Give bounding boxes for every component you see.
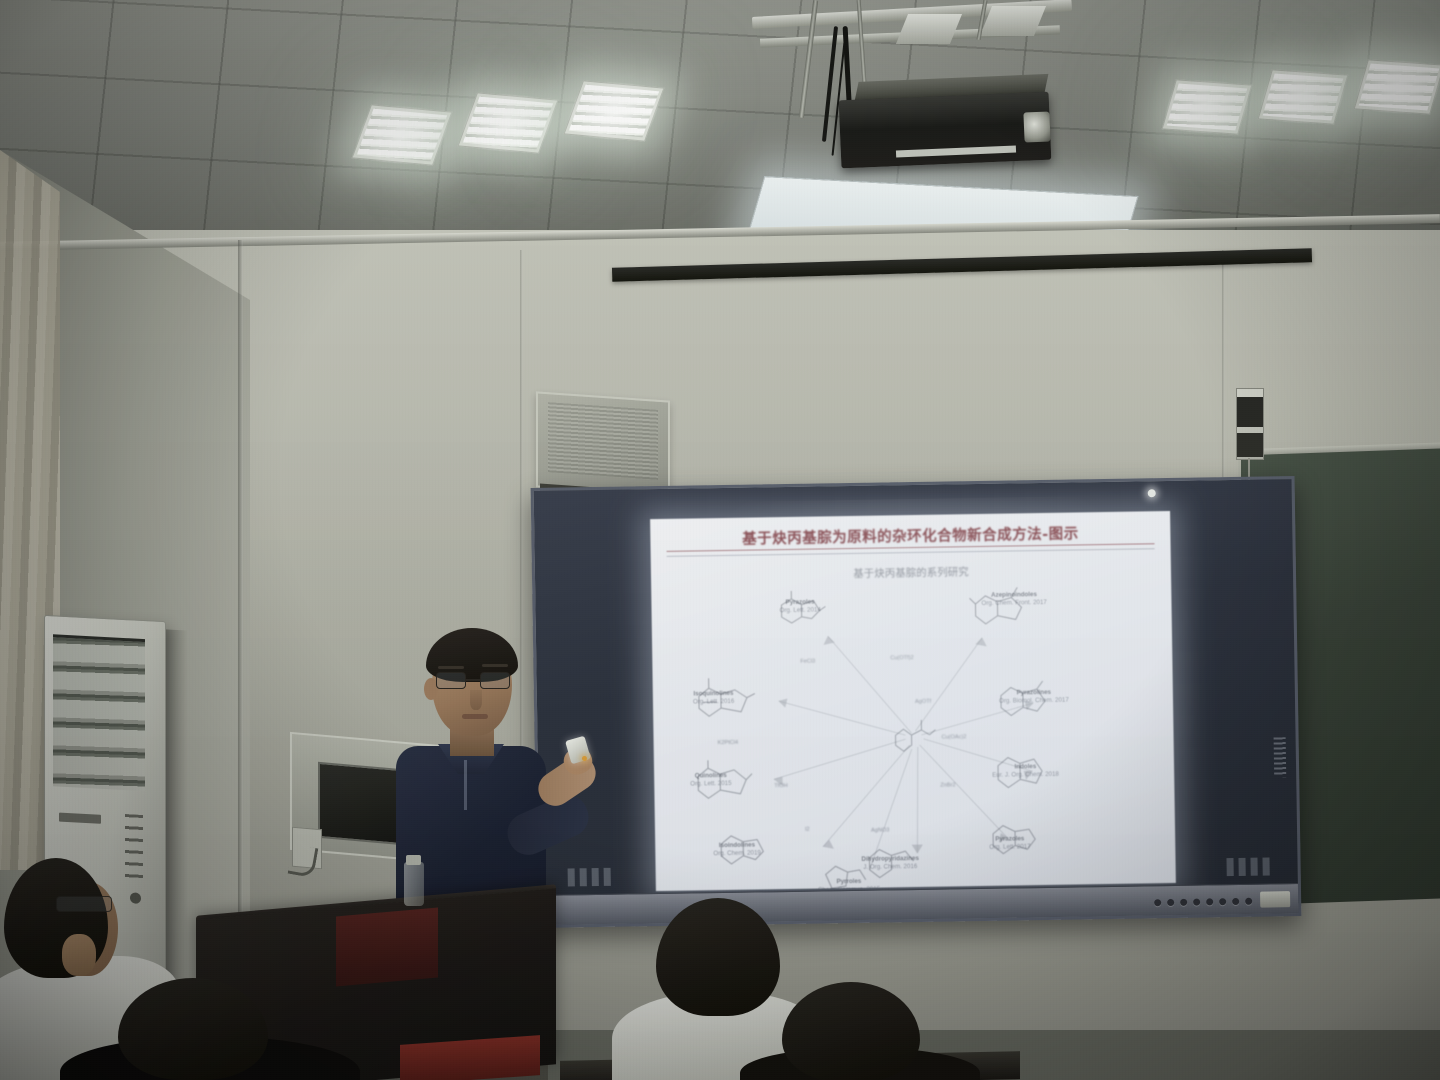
board-button-icon[interactable]	[1193, 899, 1200, 906]
compound-label: Indoles Eur. J. Org. Chem. 2018	[992, 763, 1059, 781]
compound-label: Pyrazoles Org. Lett. 2017	[989, 835, 1031, 852]
clicker-led-icon	[582, 756, 587, 761]
whiteboard-brand-logo	[1260, 891, 1290, 907]
compound-label: Isoquinolines Org. Lett. 2016	[693, 690, 735, 707]
compound-reference: Org. Lett. 2016	[693, 698, 734, 707]
board-button-icon[interactable]	[1232, 898, 1239, 905]
reagent-label: K2PtCl4	[718, 740, 739, 746]
board-button-icon[interactable]	[1245, 898, 1252, 905]
compound-label: Isoindolines Org. Chem. 2019	[713, 841, 761, 858]
ac-control-strip[interactable]	[125, 814, 143, 885]
projected-slide: 基于炔丙基腙为原料的杂环化合物新合成方法-图示 基于炔丙基腙的系列研究	[650, 511, 1176, 891]
compound-reference: Org. Lett. 2017	[989, 844, 1030, 853]
slide-title: 基于炔丙基腙为原料的杂环化合物新合成方法-图示	[650, 521, 1170, 550]
ac-power-button[interactable]	[130, 892, 141, 904]
compound-reference: Eur. J. Org. Chem. 2018	[992, 771, 1059, 780]
compound-reference: Org. Lett. 2015	[690, 780, 731, 789]
wall-speaker-icon	[536, 391, 670, 496]
ceiling-light-icon	[1258, 69, 1349, 124]
bottle-cap-icon	[406, 855, 421, 865]
wall-control-panel[interactable]	[1236, 388, 1264, 460]
water-bottle-icon	[404, 862, 424, 906]
whiteboard-button-row[interactable]	[1154, 898, 1252, 907]
reagent-label: FeCl3	[800, 659, 815, 665]
wall-corner-edge	[238, 240, 243, 1000]
lectern-panel-accent	[336, 908, 438, 987]
ceiling-light-icon	[1354, 59, 1440, 114]
compound-reference: Org. Chem. Front. 2017	[981, 599, 1046, 608]
board-side-marker-right	[1226, 857, 1269, 876]
reagent-label: Cu(OAc)2	[942, 734, 967, 740]
eyeglasses-icon	[56, 896, 112, 912]
compound-reference: Org. Biomol. Chem. 2017	[999, 697, 1069, 706]
core-molecule-glyph	[891, 715, 938, 758]
compound-label: Pyrazoles Org. Lett. 2014	[779, 598, 821, 615]
presenter-mouth	[462, 714, 488, 719]
compound-reference: Org. Chem. 2019	[713, 850, 761, 859]
ceiling-light-icon	[1162, 79, 1253, 134]
presenter-nose	[470, 690, 482, 710]
reagent-label: Cu(OTf)2	[890, 655, 913, 661]
projector-lens-icon	[1023, 111, 1050, 142]
compound-label: Pyrazolines Org. Biomol. Chem. 2017	[999, 689, 1069, 707]
audience-member-hand	[62, 934, 96, 976]
board-button-icon[interactable]	[1154, 899, 1161, 906]
ac-shadow	[166, 629, 188, 1010]
slide-subtitle: 基于炔丙基腙的系列研究	[651, 561, 1171, 584]
presenter-eyebrow	[438, 666, 464, 669]
reagent-label: TfOH	[774, 783, 787, 789]
interactive-whiteboard[interactable]: 基于炔丙基腙为原料的杂环化合物新合成方法-图示 基于炔丙基腙的系列研究	[531, 476, 1302, 928]
reagent-label: AgOTf	[915, 699, 931, 705]
eyeglasses-icon	[436, 672, 512, 689]
speaker-grill	[548, 402, 658, 480]
compound-label: Quinolines Org. Lett. 2015	[690, 772, 732, 789]
reagent-label: AgNO3	[871, 827, 889, 833]
compound-reference: J. Org. Chem. 2016	[862, 863, 920, 872]
ac-louvers	[53, 634, 145, 791]
ac-brand-logo	[59, 813, 101, 824]
power-led-icon	[1148, 489, 1156, 497]
reaction-scheme-diagram: Pyrazoles Org. Lett. 2014 Azepinoindoles…	[651, 583, 1176, 891]
compound-reference: Org. Lett. 2014	[779, 607, 820, 616]
presenter-shirt-placket	[464, 760, 467, 810]
board-button-icon[interactable]	[1219, 898, 1226, 905]
board-speaker-vent	[1274, 737, 1287, 777]
reagent-label: ZnBr2	[940, 782, 955, 788]
lecture-room-photo: 基于炔丙基腙为原料的杂环化合物新合成方法-图示 基于炔丙基腙的系列研究	[0, 0, 1440, 1080]
board-button-icon[interactable]	[1167, 899, 1174, 906]
projector-icon	[839, 92, 1052, 169]
compound-label: Azepinoindoles Org. Chem. Front. 2017	[981, 591, 1047, 609]
board-button-icon[interactable]	[1180, 899, 1187, 906]
reagent-label: I2	[805, 827, 810, 833]
compound-label: Dihydropyridazines J. Org. Chem. 2016	[861, 855, 919, 873]
board-button-icon[interactable]	[1206, 898, 1213, 905]
presenter-eyebrow	[482, 664, 508, 667]
